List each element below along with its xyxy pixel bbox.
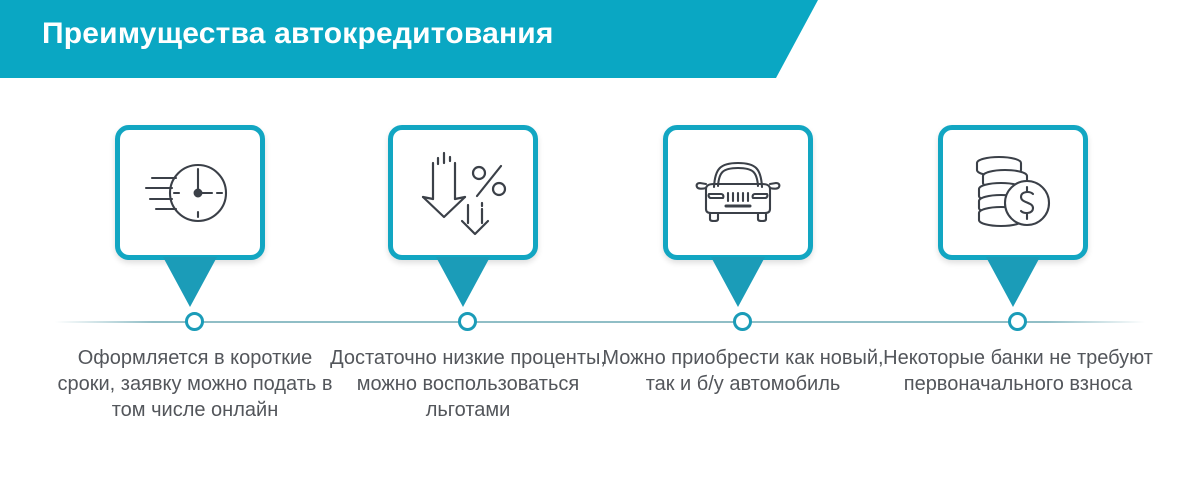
timeline-marker-4 [1008, 312, 1027, 331]
percent-down-arrow-icon [393, 130, 533, 255]
icon-card-3[interactable] [663, 125, 813, 260]
card-tail-1 [163, 257, 217, 307]
coins-dollar-icon [943, 130, 1083, 255]
benefit-caption-3: Можно приобрести как новый, так и б/у ав… [593, 345, 893, 397]
icon-card-2[interactable] [388, 125, 538, 260]
timeline-marker-1 [185, 312, 204, 331]
benefit-caption-1: Оформляется в короткие сроки, заявку мож… [45, 345, 345, 423]
card-tail-2 [436, 257, 490, 307]
benefit-item-2: Достаточно низкие проценты, можно воспол… [318, 0, 618, 500]
car-front-icon [668, 130, 808, 255]
benefit-item-1: Оформляется в короткие сроки, заявку мож… [45, 0, 345, 500]
clock-speed-icon [120, 130, 260, 255]
card-tail-4 [986, 257, 1040, 307]
icon-card-1[interactable] [115, 125, 265, 260]
card-tail-3 [711, 257, 765, 307]
benefit-caption-2: Достаточно низкие проценты, можно воспол… [318, 345, 618, 423]
icon-card-4[interactable] [938, 125, 1088, 260]
benefit-item-3: Можно приобрести как новый, так и б/у ав… [593, 0, 893, 500]
timeline-marker-3 [733, 312, 752, 331]
benefit-caption-4: Некоторые банки не требуют первоначально… [868, 345, 1168, 397]
benefit-item-4: Некоторые банки не требуют первоначально… [868, 0, 1168, 500]
timeline-marker-2 [458, 312, 477, 331]
